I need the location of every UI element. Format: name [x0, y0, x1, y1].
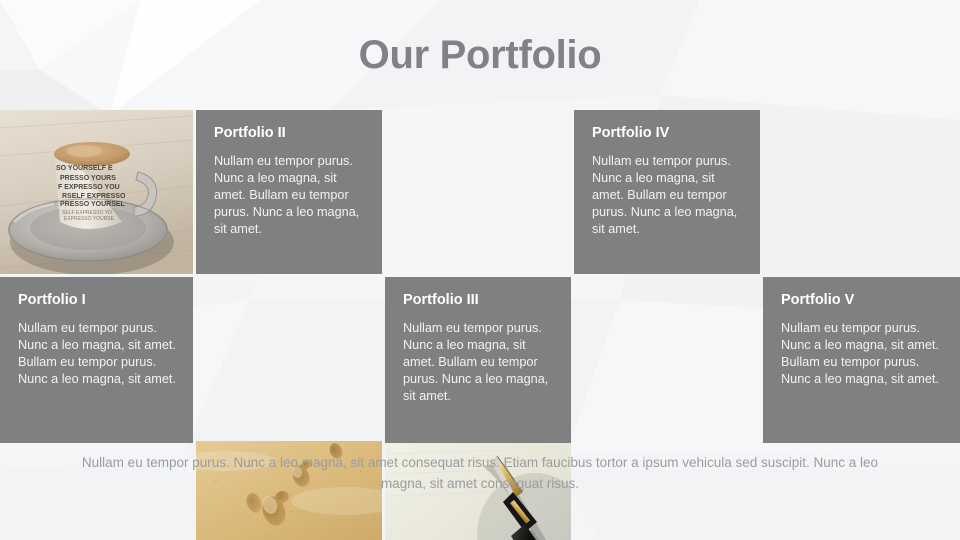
portfolio-4-panel[interactable]: Portfolio IV Nullam eu tempor purus. Nun…	[574, 110, 760, 274]
portfolio-3-body: Nullam eu tempor purus. Nunc a leo magna…	[403, 320, 555, 405]
svg-text:F EXPRESSO YOU: F EXPRESSO YOU	[58, 184, 120, 191]
portfolio-3-panel[interactable]: Portfolio III Nullam eu tempor purus. Nu…	[385, 277, 571, 443]
portfolio-4-title: Portfolio IV	[592, 126, 744, 142]
espresso-cup-photo: SO YOURSELF E PRESSO YOURS F EXPRESSO YO…	[0, 110, 193, 274]
svg-text:PRESSO YOURSEL: PRESSO YOURSEL	[60, 201, 126, 208]
portfolio-2-title: Portfolio II	[214, 126, 366, 142]
svg-text:SO YOURSELF E: SO YOURSELF E	[56, 165, 113, 172]
portfolio-5-title: Portfolio V	[781, 293, 944, 309]
portfolio-2-body: Nullam eu tempor purus. Nunc a leo magna…	[214, 153, 366, 238]
slide: Our Portfolio	[0, 0, 960, 540]
footer-text: Nullam eu tempor purus. Nunc a leo magna…	[80, 452, 880, 494]
portfolio-1-body: Nullam eu tempor purus. Nunc a leo magna…	[18, 320, 177, 388]
portfolio-2-panel[interactable]: Portfolio II Nullam eu tempor purus. Nun…	[196, 110, 382, 274]
portfolio-5-body: Nullam eu tempor purus. Nunc a leo magna…	[781, 320, 944, 388]
footer: Nullam eu tempor purus. Nunc a leo magna…	[0, 452, 960, 512]
portfolio-4-body: Nullam eu tempor purus. Nunc a leo magna…	[592, 153, 744, 238]
portfolio-3-title: Portfolio III	[403, 293, 555, 309]
page-title: Our Portfolio	[359, 35, 602, 75]
title-zone: Our Portfolio	[0, 0, 960, 110]
portfolio-1-image[interactable]: SO YOURSELF E PRESSO YOURS F EXPRESSO YO…	[0, 110, 193, 274]
portfolio-1-title: Portfolio I	[18, 293, 177, 309]
portfolio-5-panel[interactable]: Portfolio V Nullam eu tempor purus. Nunc…	[763, 277, 960, 443]
svg-text:PRESSO YOURS: PRESSO YOURS	[60, 175, 116, 182]
svg-text:EXPRESSO YOURSE: EXPRESSO YOURSE	[64, 216, 115, 222]
portfolio-1-panel[interactable]: Portfolio I Nullam eu tempor purus. Nunc…	[0, 277, 193, 443]
portfolio-grid: SO YOURSELF E PRESSO YOURS F EXPRESSO YO…	[0, 110, 960, 443]
